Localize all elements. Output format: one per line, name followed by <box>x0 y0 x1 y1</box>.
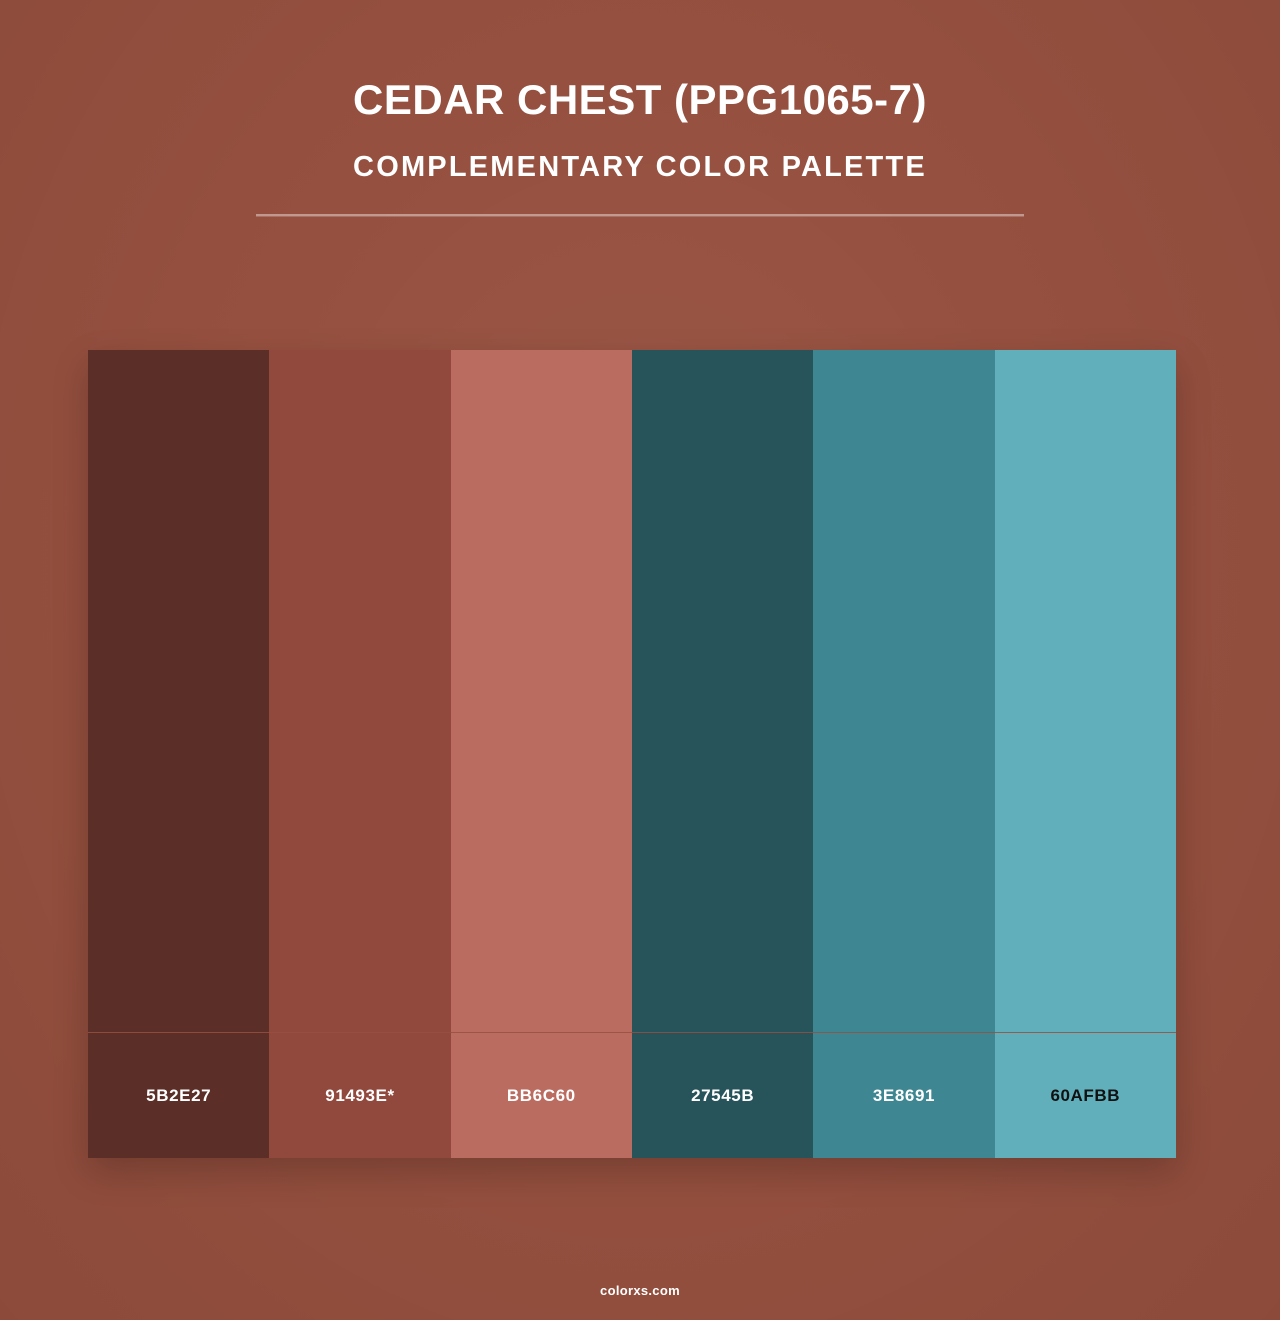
page-subtitle: COMPLEMENTARY COLOR PALETTE <box>0 124 1280 184</box>
site-credit: colorxs.com <box>0 1283 1280 1298</box>
swatch-hex-label: 91493E* <box>325 1086 394 1106</box>
color-swatch[interactable]: 60AFBB <box>995 350 1176 1158</box>
swatch-color-block <box>813 350 994 1032</box>
swatch-label-box: 60AFBB <box>995 1032 1176 1158</box>
swatch-hex-label: 60AFBB <box>1050 1086 1120 1106</box>
swatch-color-block <box>269 350 450 1032</box>
swatch-color-block <box>451 350 632 1032</box>
swatch-hex-label: 5B2E27 <box>146 1086 211 1106</box>
color-swatch[interactable]: BB6C60 <box>451 350 632 1158</box>
color-palette: 5B2E27 91493E* BB6C60 27545B 3E8691 60AF… <box>88 350 1176 1158</box>
color-swatch[interactable]: 27545B <box>632 350 813 1158</box>
swatch-label-box: BB6C60 <box>451 1032 632 1158</box>
color-swatch[interactable]: 5B2E27 <box>88 350 269 1158</box>
color-swatch[interactable]: 91493E* <box>269 350 450 1158</box>
title-divider <box>256 214 1024 217</box>
swatch-color-block <box>88 350 269 1032</box>
swatch-label-box: 91493E* <box>269 1032 450 1158</box>
swatch-hex-label: 3E8691 <box>873 1086 935 1106</box>
swatch-label-box: 5B2E27 <box>88 1032 269 1158</box>
color-swatch[interactable]: 3E8691 <box>813 350 994 1158</box>
swatch-hex-label: BB6C60 <box>507 1086 576 1106</box>
swatch-label-box: 3E8691 <box>813 1032 994 1158</box>
swatch-color-block <box>995 350 1176 1032</box>
swatch-color-block <box>632 350 813 1032</box>
header: CEDAR CHEST (PPG1065-7) COMPLEMENTARY CO… <box>0 0 1280 217</box>
swatch-label-box: 27545B <box>632 1032 813 1158</box>
page-title: CEDAR CHEST (PPG1065-7) <box>0 0 1280 124</box>
swatch-hex-label: 27545B <box>691 1086 754 1106</box>
